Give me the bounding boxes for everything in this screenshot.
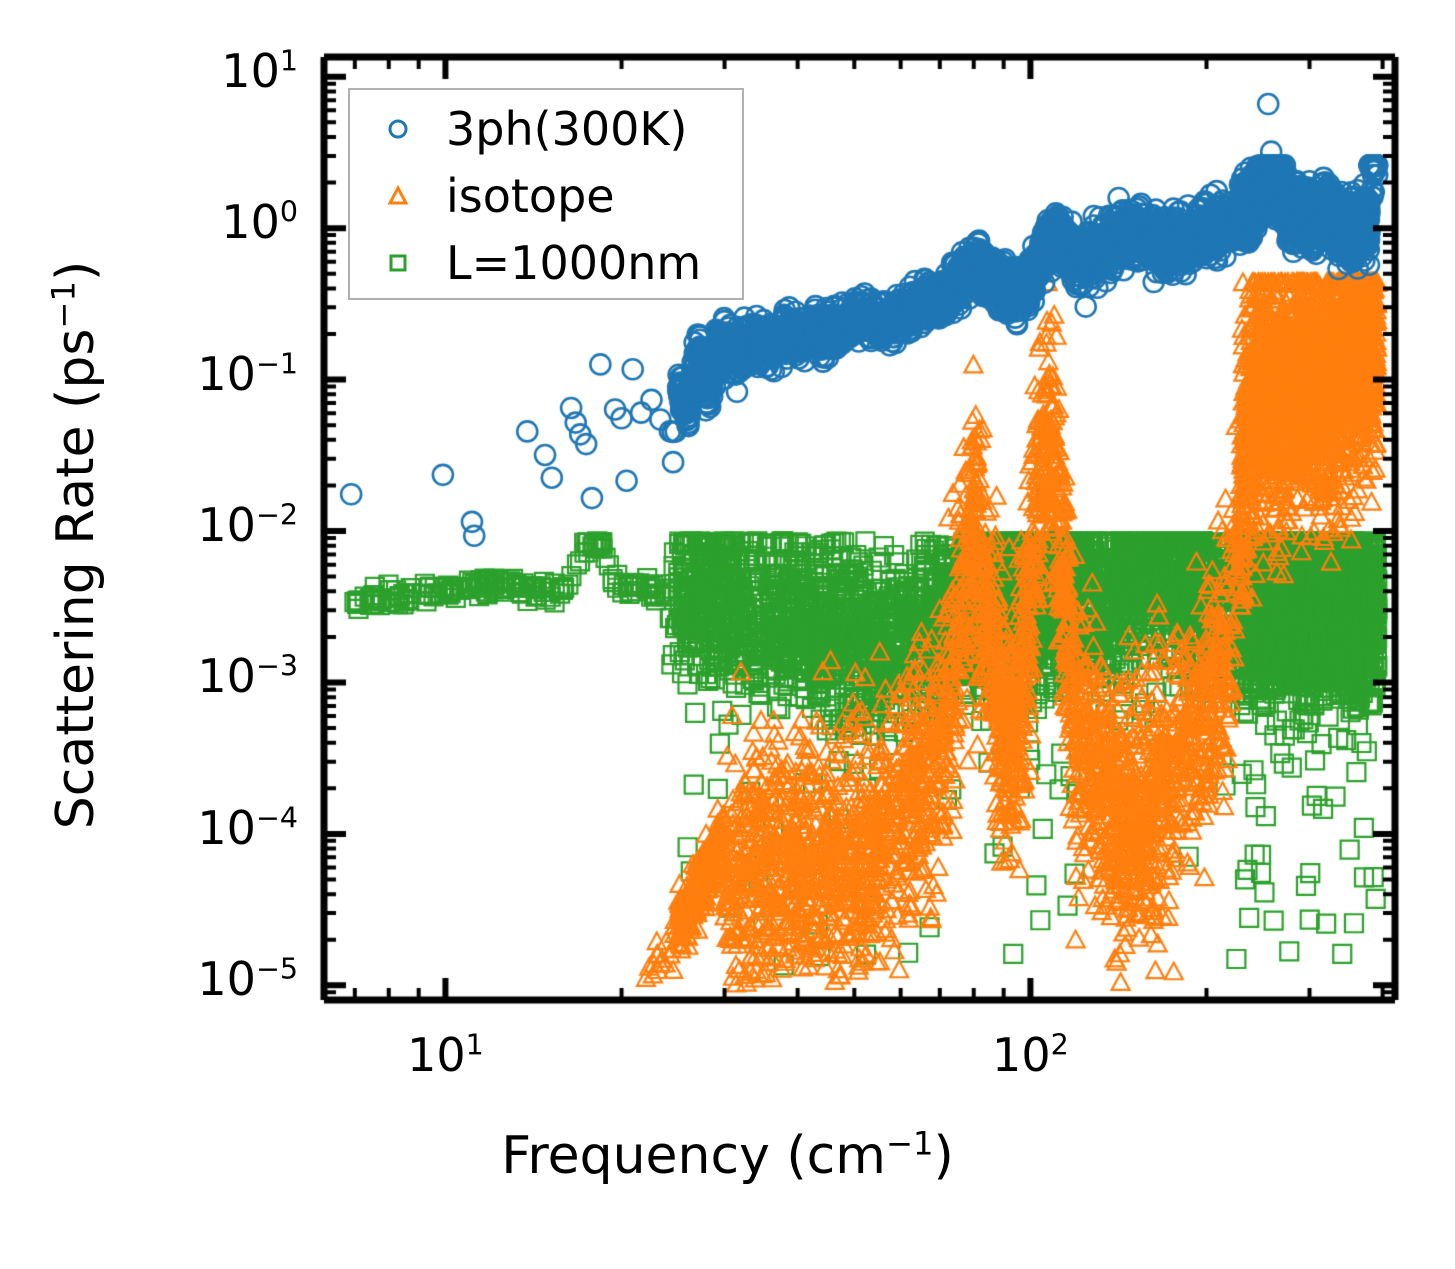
y-tick-exponent: −2 bbox=[256, 499, 298, 532]
legend-label-length: L=1000nm bbox=[446, 236, 701, 290]
y-tick-exponent: 1 bbox=[280, 44, 298, 77]
x-axis-label-tail: ) bbox=[933, 1126, 953, 1186]
legend-label-isotope: isotope bbox=[446, 169, 615, 223]
legend-entry-isotope[interactable]: isotope bbox=[350, 163, 742, 229]
y-axis-label-container: Scattering Rate (ps−1) bbox=[46, 40, 106, 1050]
y-tick-exponent: 0 bbox=[280, 196, 298, 229]
y-tick-base: 10 bbox=[197, 801, 256, 855]
legend-entry-length[interactable]: L=1000nm bbox=[350, 230, 742, 296]
y-tick-base: 10 bbox=[221, 195, 280, 249]
x-tick-label: 101 bbox=[345, 1028, 545, 1082]
legend[interactable]: 3ph(300K) isotope L=1000nm bbox=[348, 88, 744, 300]
y-tick-base: 10 bbox=[197, 347, 256, 401]
x-axis-label: Frequency (cm−1) bbox=[0, 1126, 1455, 1186]
x-tick-base: 10 bbox=[407, 1028, 466, 1082]
y-tick-base: 10 bbox=[197, 649, 256, 703]
x-tick-exponent: 2 bbox=[1051, 1029, 1069, 1062]
legend-marker-square-icon bbox=[350, 248, 446, 278]
y-tick-base: 10 bbox=[197, 952, 256, 1006]
y-tick-exponent: −1 bbox=[256, 347, 298, 380]
y-axis-label: Scattering Rate (ps−1) bbox=[46, 40, 106, 1050]
x-axis-label-exponent: −1 bbox=[886, 1125, 934, 1163]
y-tick-exponent: −3 bbox=[256, 650, 298, 683]
x-tick-exponent: 1 bbox=[466, 1029, 484, 1062]
legend-marker-triangle-icon bbox=[350, 181, 446, 211]
x-axis-label-text: Frequency (cm bbox=[501, 1126, 886, 1186]
y-tick-exponent: −4 bbox=[256, 802, 298, 835]
legend-marker-circle-icon bbox=[350, 114, 446, 144]
y-axis-label-exponent: −1 bbox=[45, 281, 83, 329]
x-tick-label: 102 bbox=[930, 1028, 1130, 1082]
x-tick-base: 10 bbox=[992, 1028, 1051, 1082]
y-tick-base: 10 bbox=[221, 44, 280, 98]
figure: 101 100 10−1 10−2 10−3 10−4 10−5 101 102… bbox=[0, 0, 1455, 1269]
y-tick-base: 10 bbox=[197, 498, 256, 552]
y-axis-label-tail: ) bbox=[46, 261, 106, 281]
legend-entry-3ph[interactable]: 3ph(300K) bbox=[350, 96, 742, 162]
y-tick-exponent: −5 bbox=[256, 953, 298, 986]
y-axis-label-text: Scattering Rate (ps bbox=[46, 329, 106, 830]
legend-label-3ph: 3ph(300K) bbox=[446, 102, 687, 156]
